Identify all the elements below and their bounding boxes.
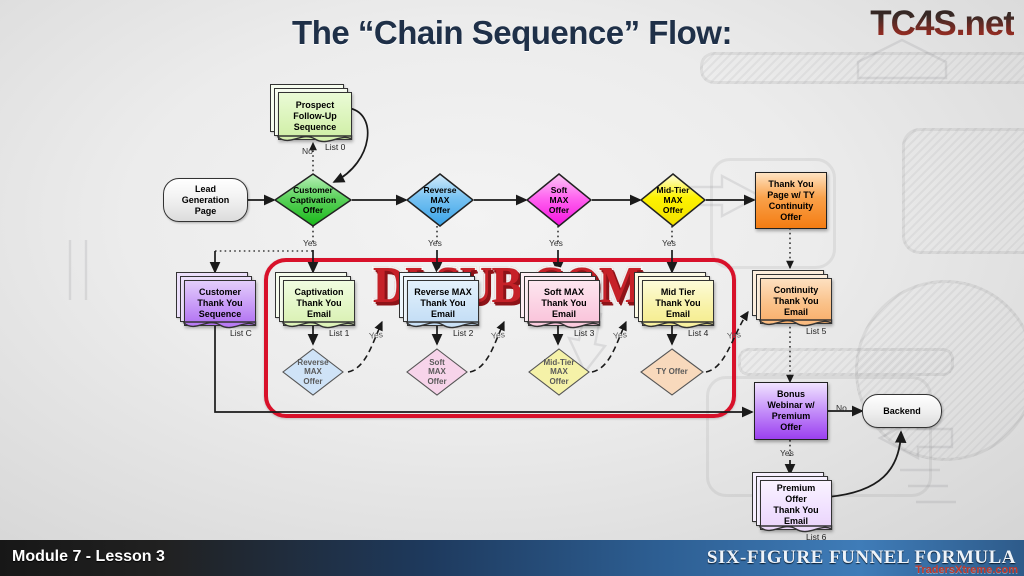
edge-label-yes-d1: Yes [368,329,383,341]
node-label: Bonus Webinar w/ Premium Offer [755,383,827,439]
node-label: Reverse MAX Thank You Email [408,281,478,325]
node-premium-offer-thank-you-email[interactable]: Premium Offer Thank You Email List 6 [752,472,832,527]
edge-label-yes-reverse: Yes [428,238,442,248]
footer-module-label: Module 7 - Lesson 3 [12,548,165,566]
edge-label-yes-d4: Yes [726,329,741,341]
node-label: TY Offer [640,348,704,396]
tc4s-logo: TC4S.net [870,4,1014,44]
node-label: Lead Generation Page [164,179,247,221]
doc-sheet-front: Prospect Follow-Up Sequence [278,92,352,140]
bg-decoration-rounded-5 [738,348,954,376]
doc-sheet-front: Premium Offer Thank You Email [760,480,832,530]
node-label: Reverse MAX Offer [406,173,474,227]
list-label-4: List 4 [688,328,708,338]
doc-sheet-front: Mid Tier Thank You Email [642,280,714,326]
list-label-0: List 0 [325,142,345,152]
node-thank-you-page-ty-continuity-offer[interactable]: Thank You Page w/ TY Continuity Offer [755,172,827,229]
slide-canvas: The “Chain Sequence” Flow: TC4S.net [0,0,1024,576]
node-customer-thank-you-sequence[interactable]: Customer Thank You Sequence List C [176,272,256,324]
edge-label-yes-d2: Yes [490,329,505,341]
node-label: Thank You Page w/ TY Continuity Offer [756,173,826,228]
edge-label-no-backend: No [836,403,847,413]
node-label: Soft MAX Offer [526,173,592,227]
node-label: Soft MAX Thank You Email [529,281,599,325]
node-label: Mid Tier Thank You Email [643,281,713,325]
node-lead-generation-page[interactable]: Lead Generation Page [163,178,248,222]
node-customer-captivation-offer[interactable]: Customer Captivation Offer [274,173,352,227]
edge-label-yes-midtier: Yes [662,238,676,248]
node-bonus-webinar-premium-offer[interactable]: Bonus Webinar w/ Premium Offer [754,382,828,440]
node-mid-tier-max-offer-secondary[interactable]: Mid-Tier MAX Offer [528,348,590,396]
node-mid-tier-max-offer[interactable]: Mid-Tier MAX Offer [640,173,706,227]
doc-sheet-front: Continuity Thank You Email [760,278,832,324]
node-mid-tier-thank-you-email[interactable]: Mid Tier Thank You Email List 4 [634,272,714,324]
doc-sheet-front: Soft MAX Thank You Email [528,280,600,326]
node-label: Mid-Tier MAX Offer [640,173,706,227]
doc-sheet-front: Reverse MAX Thank You Email [407,280,479,326]
node-label: Backend [863,395,941,427]
node-prospect-follow-up-sequence[interactable]: Prospect Follow-Up Sequence List 0 [270,84,350,136]
node-soft-max-offer[interactable]: Soft MAX Offer [526,173,592,227]
edge-label-no-prospect: No [302,146,313,156]
node-label: Customer Captivation Offer [274,173,352,227]
edge-label-yes-d3: Yes [612,329,627,341]
node-soft-max-offer-secondary[interactable]: Soft MAX Offer [406,348,468,396]
bg-decoration-rounded-1 [700,52,1024,84]
node-continuity-thank-you-email[interactable]: Continuity Thank You Email List 5 [752,270,832,322]
slide-footer: Module 7 - Lesson 3 SIX-FIGURE FUNNEL FO… [0,540,1024,576]
node-label: Continuity Thank You Email [761,279,831,323]
node-label: Customer Thank You Sequence [185,281,255,325]
node-label: Soft MAX Offer [406,348,468,396]
list-label-1: List 1 [329,328,349,338]
node-reverse-max-thank-you-email[interactable]: Reverse MAX Thank You Email List 2 [399,272,479,324]
node-label: Captivation Thank You Email [284,281,354,325]
doc-sheet-front: Captivation Thank You Email [283,280,355,326]
list-label-2: List 2 [453,328,473,338]
doc-sheet-front: Customer Thank You Sequence [184,280,256,326]
node-backend[interactable]: Backend [862,394,942,428]
node-reverse-max-offer-secondary[interactable]: Reverse MAX Offer [282,348,344,396]
edge-label-yes-soft: Yes [549,238,563,248]
node-label: Prospect Follow-Up Sequence [279,93,351,139]
edge-label-yes-premium: Yes [780,448,794,458]
bg-decoration-rounded-2 [902,128,1024,254]
node-soft-max-thank-you-email[interactable]: Soft MAX Thank You Email List 3 [520,272,600,324]
edge-label-yes-captivation: Yes [303,238,317,248]
node-ty-offer[interactable]: TY Offer [640,348,704,396]
node-captivation-thank-you-email[interactable]: Captivation Thank You Email List 1 [275,272,355,324]
node-reverse-max-offer[interactable]: Reverse MAX Offer [406,173,474,227]
list-label-3: List 3 [574,328,594,338]
node-label: Premium Offer Thank You Email [761,481,831,529]
list-label-c: List C [230,328,252,338]
node-label: Mid-Tier MAX Offer [528,348,590,396]
list-label-5: List 5 [806,326,826,336]
node-label: Reverse MAX Offer [282,348,344,396]
tradersxtreme-watermark: TradersXtreme.com [915,564,1018,576]
